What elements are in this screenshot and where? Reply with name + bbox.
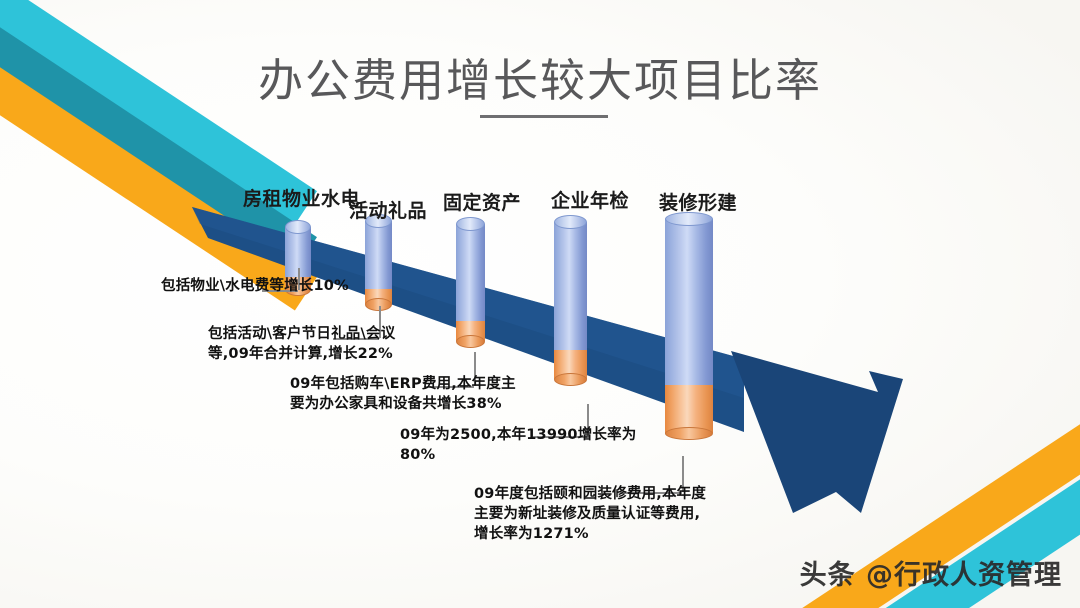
bar-label-1: 房租物业水电	[243, 184, 360, 211]
bar-base-ellipse	[456, 335, 485, 348]
bar-body-orange	[665, 385, 713, 433]
bar-cap-ellipse	[456, 217, 485, 231]
bar-body-blue	[665, 219, 713, 385]
bar-2	[365, 214, 392, 297]
bar-4	[554, 215, 587, 372]
annotation-4: 09年为2500,本年13990增长率为80%	[400, 425, 644, 465]
bar-base-ellipse	[665, 427, 713, 440]
annotation-3: 09年包括购车\ERP费用,本年度主要为办公家具和设备共增长38%	[290, 374, 516, 414]
bar-body-blue	[554, 222, 587, 350]
slide-title: 办公费用增长较大项目比率	[0, 44, 1080, 109]
bar-body-blue	[456, 224, 485, 321]
bar-label-2: 活动礼品	[349, 196, 427, 223]
bar-3	[456, 217, 485, 334]
annotation-2: 包括活动\客户节日礼品\会议等,09年合并计算,增长22%	[208, 324, 400, 364]
bar-cap-ellipse	[285, 220, 311, 234]
presentation-slide: 办公费用增长较大项目比率 房租物业水电活动礼品固定资产企业年检装修形建 包括物业…	[0, 0, 1080, 608]
annotation-5: 09年度包括颐和园装修费用,本年度主要为新址装修及质量认证等费用,增长率为127…	[474, 484, 708, 544]
watermark: 头条 @行政人资管理	[800, 553, 1062, 592]
bar-cap-ellipse	[554, 215, 587, 229]
annotation-1: 包括物业\水电费等增长10%	[161, 276, 361, 296]
bar-label-3: 固定资产	[443, 188, 521, 215]
bar-5	[665, 212, 713, 426]
title-underline	[480, 115, 608, 118]
bar-body-blue	[365, 221, 392, 289]
bar-base-ellipse	[554, 373, 587, 386]
bar-label-5: 装修形建	[659, 188, 737, 215]
bar-label-4: 企业年检	[551, 186, 629, 213]
